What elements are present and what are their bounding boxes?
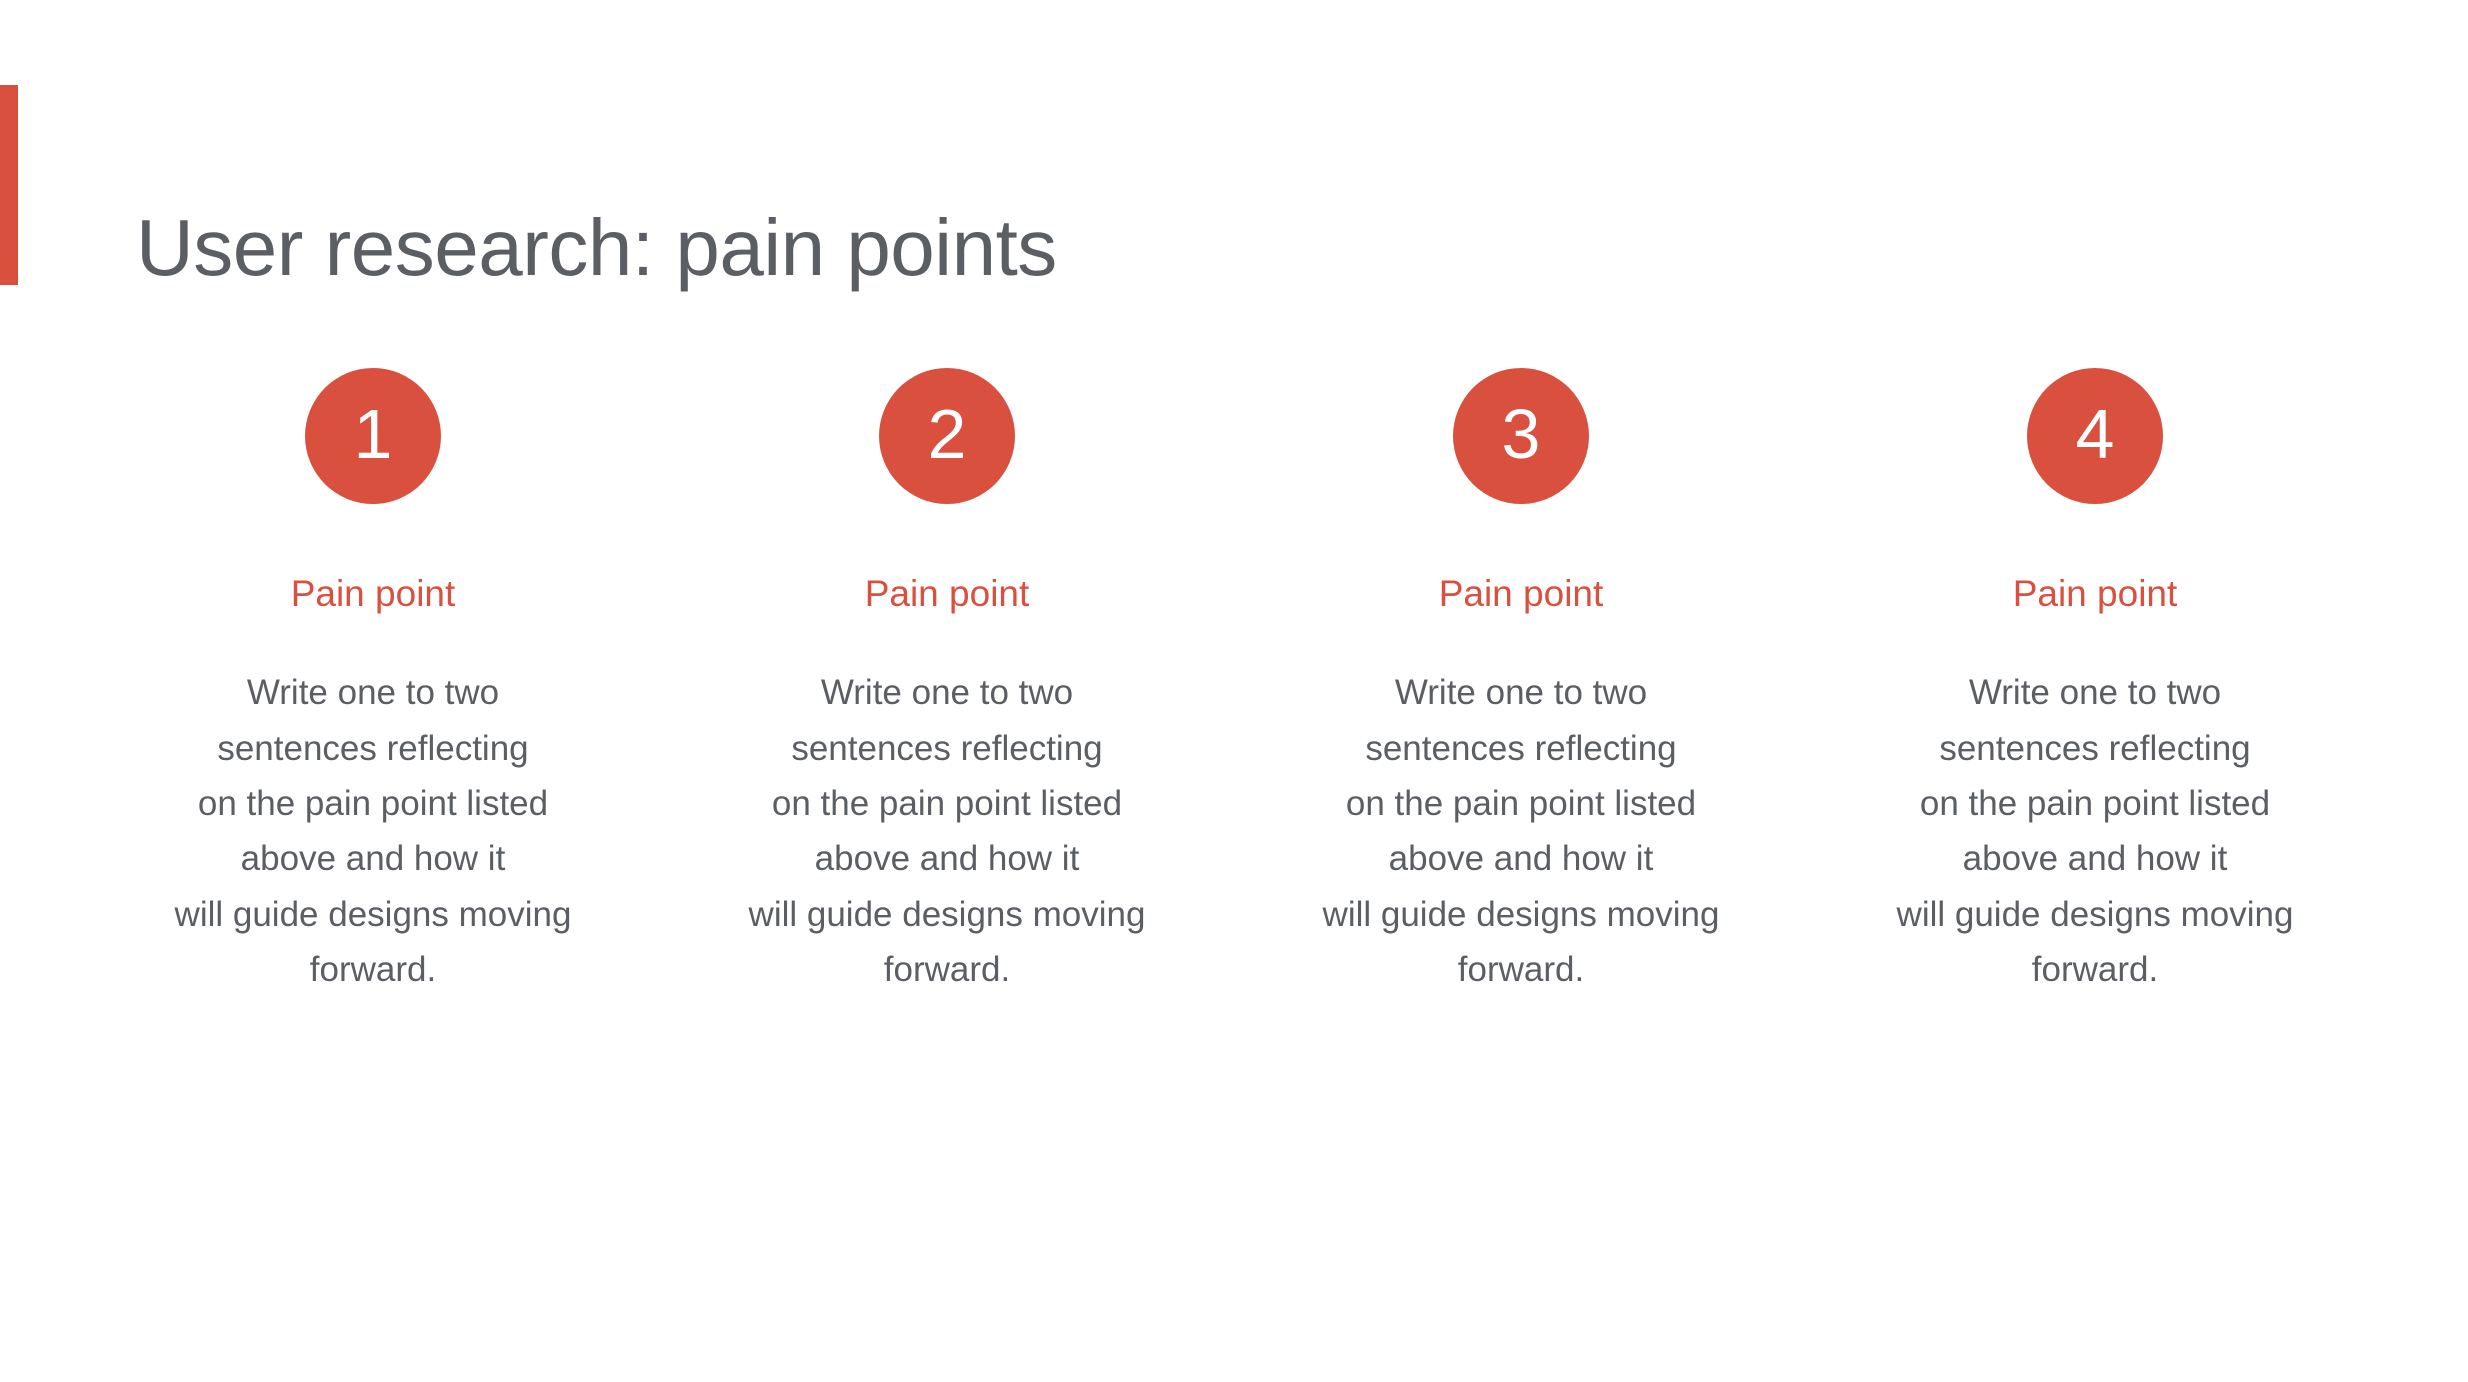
pain-point-body-3: Write one to two sentences reflecting on… — [1323, 665, 1720, 997]
pain-point-number-badge-4: 4 — [2027, 368, 2163, 504]
pain-point-body-4: Write one to two sentences reflecting on… — [1897, 665, 2294, 997]
badge-number-label: 1 — [354, 399, 393, 469]
badge-number-label: 3 — [1502, 399, 1541, 469]
pain-point-number-badge-2: 2 — [879, 368, 1015, 504]
page-title: User research: pain points — [136, 202, 1057, 294]
badge-number-label: 4 — [2076, 399, 2115, 469]
pain-point-column-2: 2 Pain point Write one to two sentences … — [660, 368, 1234, 997]
badge-number-label: 2 — [928, 399, 967, 469]
pain-point-number-badge-3: 3 — [1453, 368, 1589, 504]
slide-canvas: User research: pain points 1 Pain point … — [0, 0, 2468, 1382]
pain-point-heading-4: Pain point — [2013, 572, 2178, 616]
title-accent-bar — [0, 85, 18, 285]
pain-points-row: 1 Pain point Write one to two sentences … — [86, 368, 2382, 997]
pain-point-heading-2: Pain point — [865, 572, 1030, 616]
pain-point-heading-3: Pain point — [1439, 572, 1604, 616]
pain-point-column-3: 3 Pain point Write one to two sentences … — [1234, 368, 1808, 997]
pain-point-column-4: 4 Pain point Write one to two sentences … — [1808, 368, 2382, 997]
pain-point-number-badge-1: 1 — [305, 368, 441, 504]
pain-point-column-1: 1 Pain point Write one to two sentences … — [86, 368, 660, 997]
pain-point-body-2: Write one to two sentences reflecting on… — [749, 665, 1146, 997]
pain-point-heading-1: Pain point — [291, 572, 456, 616]
pain-point-body-1: Write one to two sentences reflecting on… — [175, 665, 572, 997]
